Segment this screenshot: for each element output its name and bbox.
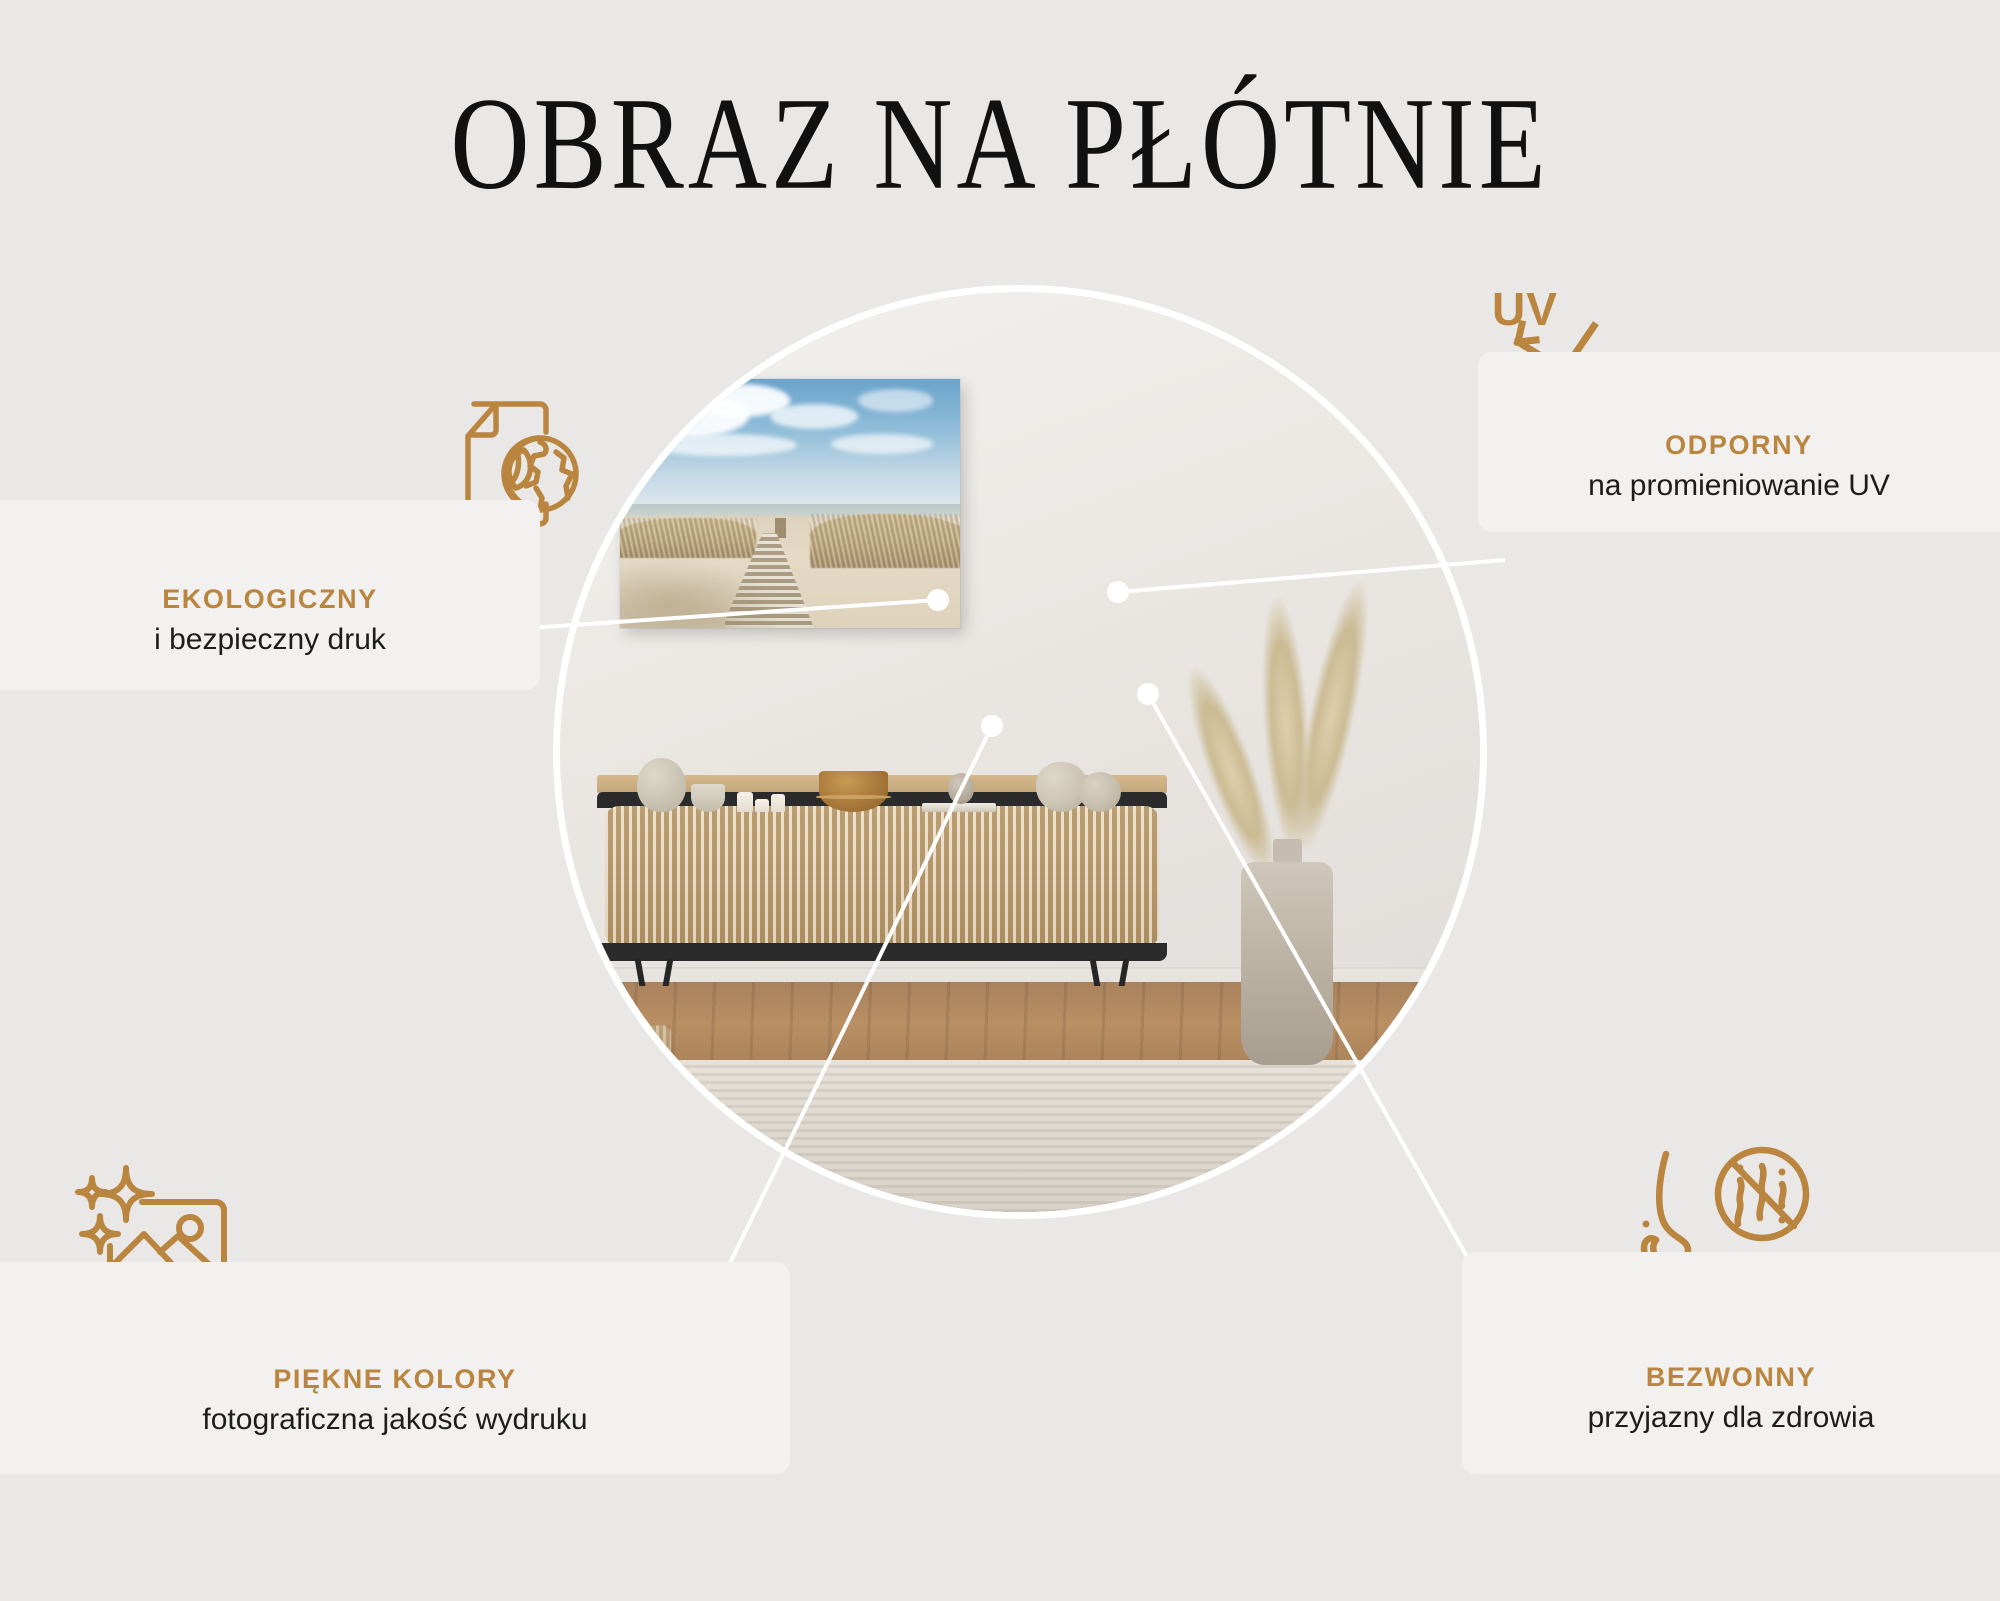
feature-label-ekologiczny: EKOLOGICZNY [162, 583, 378, 615]
sand-texture [620, 543, 777, 627]
sideboard-fluted-doors [605, 806, 1158, 947]
cloud [831, 434, 933, 454]
feature-sub-odporny: na promieniowanie UV [1588, 466, 1890, 507]
pillar-candle [771, 794, 785, 812]
feature-sub-piekne-kolory: fotograficzna jakość wydruku [202, 1400, 587, 1441]
feature-card-bezwonny[interactable]: BEZWONNY przyjazny dla zdrowia [1462, 1252, 2000, 1474]
feature-card-piekne-kolory[interactable]: PIĘKNE KOLORY fotograficzna jakość wydru… [0, 1262, 790, 1474]
sideboard [597, 775, 1167, 982]
wicker-basket [560, 1025, 670, 1160]
stacked-books [922, 803, 996, 812]
brass-bowl [819, 771, 887, 812]
feature-label-odporny: ODPORNY [1665, 429, 1813, 461]
sideboard-frame-bottom [597, 943, 1167, 962]
living-room-scene [560, 292, 1480, 1212]
infographic-canvas: OBRAZ NA PŁÓTNIE [0, 0, 2000, 1601]
canvas-artwork [620, 379, 960, 627]
pillar-candle [737, 792, 753, 813]
feature-label-piekne-kolory: PIĘKNE KOLORY [273, 1363, 516, 1395]
feature-card-ekologiczny[interactable]: EKOLOGICZNY i bezpieczny druk [0, 500, 540, 690]
page-title: OBRAZ NA PŁÓTNIE [20, 78, 1980, 210]
ceramic-vase [637, 758, 686, 812]
brass-bowl-rim [816, 795, 891, 798]
area-rug [560, 1060, 1480, 1212]
stone-sphere [948, 773, 974, 804]
dune-grass-right [810, 514, 960, 569]
product-scene-circle [560, 292, 1480, 1212]
pillar-candle [755, 799, 769, 812]
feature-sub-ekologiczny: i bezpieczny druk [154, 620, 386, 661]
ceramic-vase-small [1079, 772, 1121, 812]
cloud [858, 389, 933, 411]
tall-stone-vase [1241, 862, 1333, 1064]
feature-sub-bezwonny: przyjazny dla zdrowia [1588, 1398, 1875, 1439]
cloud [770, 404, 859, 429]
feature-label-bezwonny: BEZWONNY [1646, 1361, 1816, 1393]
feature-card-odporny[interactable]: ODPORNY na promieniowanie UV [1478, 352, 2000, 532]
